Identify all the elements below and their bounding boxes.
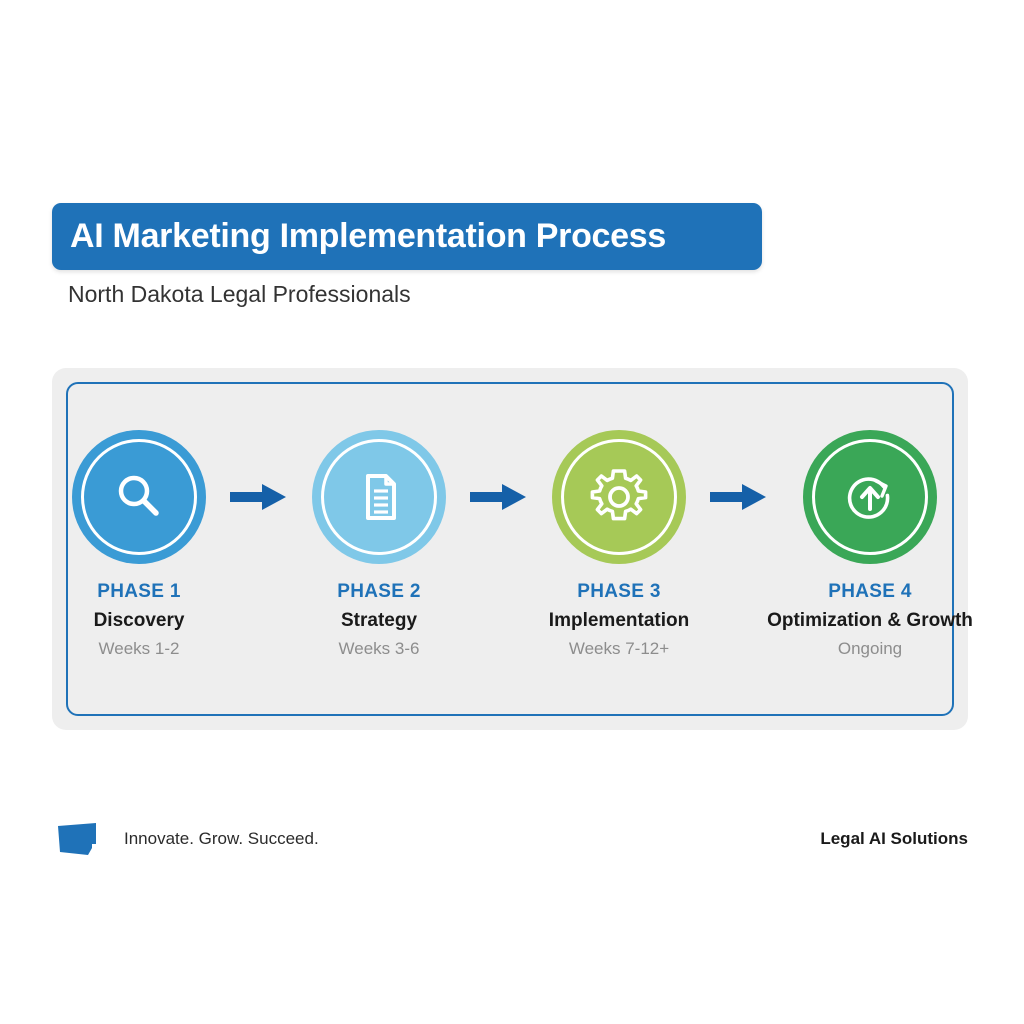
phase-1-label: PHASE 1 xyxy=(97,581,180,603)
footer-brand: Legal AI Solutions xyxy=(820,829,968,849)
magnifier-icon xyxy=(107,465,171,529)
footer-tagline: Innovate. Grow. Succeed. xyxy=(124,829,319,849)
page-title-bar: AI Marketing Implementation Process xyxy=(52,203,762,270)
phase-3-timeframe: Weeks 7-12+ xyxy=(569,639,669,659)
phase-2-name: Strategy xyxy=(341,610,417,632)
phase-item-2[interactable]: PHASE 2 Strategy Weeks 3-6 xyxy=(292,430,466,659)
phase-item-3[interactable]: PHASE 3 Implementation Weeks 7-12+ xyxy=(532,430,706,659)
phase-1-circle xyxy=(72,430,206,564)
north-dakota-state-icon xyxy=(56,822,100,861)
phase-4-timeframe: Ongoing xyxy=(838,639,902,659)
gear-icon xyxy=(587,465,651,529)
page-subtitle: North Dakota Legal Professionals xyxy=(68,281,411,308)
phase-2-timeframe: Weeks 3-6 xyxy=(339,639,420,659)
phase-4-name: Optimization & Growth xyxy=(767,610,973,632)
growth-arrow-icon xyxy=(838,465,902,529)
footer: Innovate. Grow. Succeed. Legal AI Soluti… xyxy=(56,820,968,864)
phase-row: PHASE 1 Discovery Weeks 1-2 xyxy=(52,430,968,670)
arrow-phase-1-to-2 xyxy=(226,482,292,512)
phase-3-circle xyxy=(552,430,686,564)
document-icon xyxy=(348,466,410,528)
phase-3-label: PHASE 3 xyxy=(577,581,660,603)
phase-2-circle xyxy=(312,430,446,564)
phase-item-4[interactable]: PHASE 4 Optimization & Growth Ongoing xyxy=(772,430,968,659)
page-title: AI Marketing Implementation Process xyxy=(70,217,666,256)
phase-item-1[interactable]: PHASE 1 Discovery Weeks 1-2 xyxy=(52,430,226,659)
arrow-phase-2-to-3 xyxy=(466,482,532,512)
process-panel: PHASE 1 Discovery Weeks 1-2 xyxy=(52,368,968,730)
phase-3-name: Implementation xyxy=(549,610,689,632)
phase-4-label: PHASE 4 xyxy=(828,581,911,603)
arrow-phase-3-to-4 xyxy=(706,482,772,512)
phase-1-timeframe: Weeks 1-2 xyxy=(99,639,180,659)
phase-1-name: Discovery xyxy=(94,610,185,632)
phase-2-label: PHASE 2 xyxy=(337,581,420,603)
phase-4-circle xyxy=(803,430,937,564)
